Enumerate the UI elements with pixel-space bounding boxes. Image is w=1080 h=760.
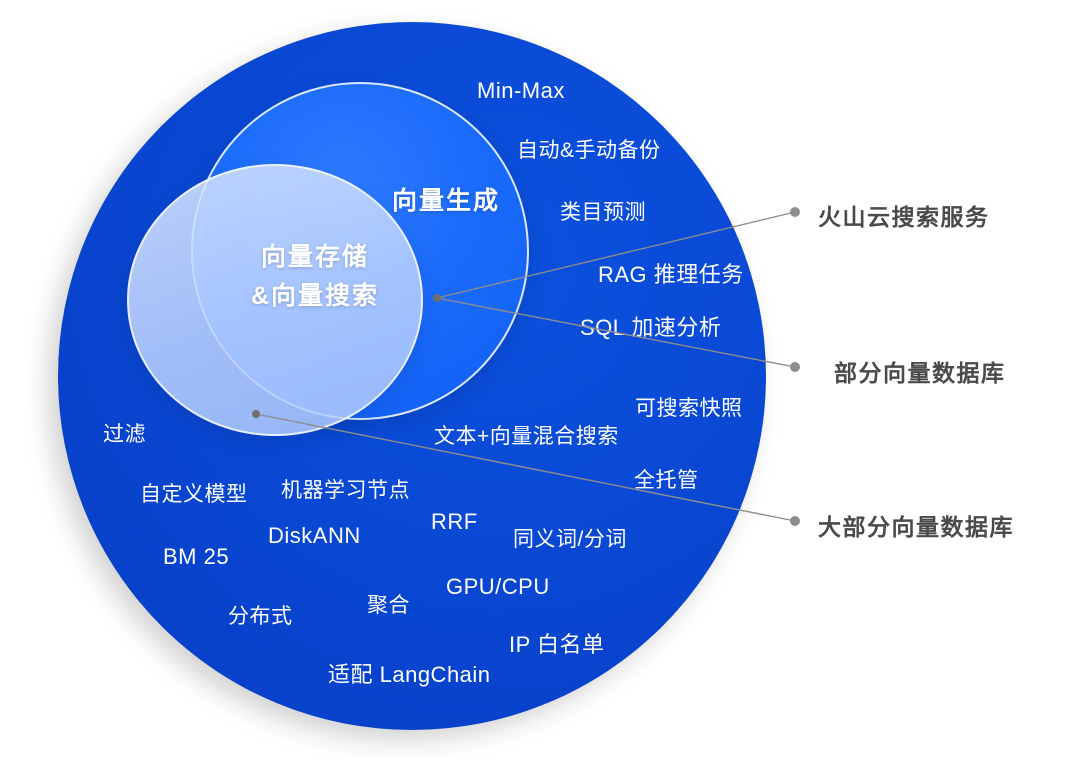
feature-label: 可搜索快照 (635, 392, 743, 422)
middle-circle-label: 向量生成 (392, 181, 500, 217)
feature-label: 自动&手动备份 (517, 134, 661, 164)
feature-label: RAG 推理任务 (598, 257, 744, 289)
connector-middle-end-dot (790, 362, 800, 372)
core-label: 向量存储 &向量搜索 (205, 238, 425, 316)
feature-label: 聚合 (367, 589, 410, 619)
feature-label: 过滤 (103, 418, 146, 448)
feature-label: 分布式 (228, 600, 293, 630)
feature-label: GPU/CPU (446, 574, 550, 600)
feature-label: BM 25 (163, 544, 229, 570)
feature-label: 类目预测 (560, 196, 646, 226)
core-label-line1: 向量存储 (205, 238, 425, 277)
diagram-canvas: 向量生成 向量存储 &向量搜索 Min-Max自动&手动备份类目预测RAG 推理… (0, 0, 1080, 760)
feature-label: Min-Max (477, 78, 565, 104)
feature-label: 自定义模型 (140, 478, 248, 508)
feature-label: IP 白名单 (509, 627, 605, 659)
feature-label: DiskANN (268, 523, 361, 549)
connector-outer-end-dot (790, 516, 800, 526)
core-label-line2: &向量搜索 (205, 277, 425, 316)
feature-label: 同义词/分词 (513, 523, 627, 553)
feature-label: RRF (431, 509, 478, 535)
connector-inner-end-dot (790, 207, 800, 217)
legend-label: 火山云搜索服务 (818, 198, 990, 232)
feature-label: 文本+向量混合搜索 (434, 420, 619, 450)
feature-label: 机器学习节点 (281, 474, 410, 504)
feature-label: 适配 LangChain (328, 657, 491, 689)
legend-label: 部分向量数据库 (834, 354, 1006, 388)
feature-label: SQL 加速分析 (580, 310, 721, 342)
legend-label: 大部分向量数据库 (818, 508, 1014, 542)
feature-label: 全托管 (634, 464, 699, 494)
